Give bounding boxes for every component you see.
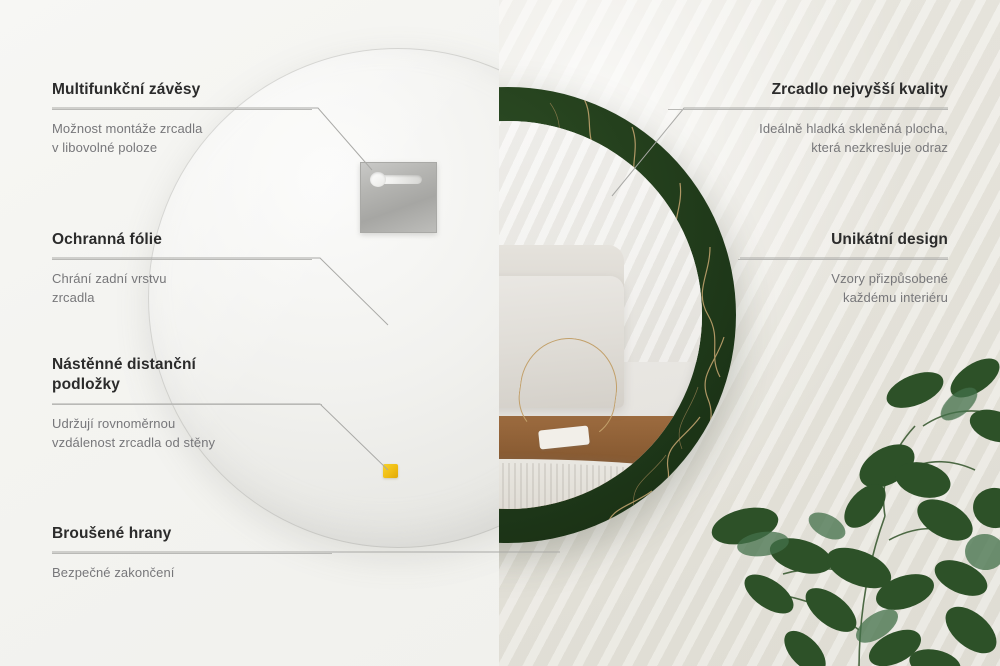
- callout-divider: [52, 553, 332, 554]
- plant-leaves-decoration: [709, 330, 1000, 666]
- callout-divider: [52, 404, 322, 405]
- title-line-2: podložky: [52, 376, 120, 393]
- callout-description: Možnost montáže zrcadla v libovolné polo…: [52, 120, 312, 158]
- callout-description: Bezpečné zakončení: [52, 564, 332, 583]
- callout-description: Ideálně hladká skleněná plocha, která ne…: [668, 120, 948, 158]
- desc-line-2: která nezkresluje odraz: [811, 140, 948, 155]
- mirror-glass-reflection: [499, 121, 702, 509]
- keyhole-slot-icon: [372, 175, 422, 184]
- desc-line-2: v libovolné poloze: [52, 140, 157, 155]
- callout-divider: [52, 109, 312, 110]
- callout-title: Multifunkční závěsy: [52, 80, 312, 100]
- desc-line-1: Možnost montáže zrcadla: [52, 121, 202, 136]
- callout-title: Broušené hrany: [52, 524, 332, 544]
- desc-line-1: Udržují rovnoměrnou: [52, 416, 175, 431]
- desc-line-2: vzdálenost zrcadla od stěny: [52, 435, 215, 450]
- title-line-1: Nástěnné distanční: [52, 356, 196, 373]
- callout-divider: [668, 109, 948, 110]
- wall-spacer-pad: [383, 464, 398, 478]
- hanging-bracket: [360, 162, 437, 233]
- callout-divider: [52, 259, 312, 260]
- callout-ochranna-folie: Ochranná fólie Chrání zadní vrstvu zrcad…: [52, 230, 312, 308]
- desc-line-2: každému interiéru: [843, 290, 948, 305]
- callout-divider: [738, 259, 948, 260]
- callout-title: Zrcadlo nejvyšší kvality: [668, 80, 948, 100]
- callout-description: Chrání zadní vrstvu zrcadla: [52, 270, 312, 308]
- callout-zrcadlo-nejvyssi-kvality: Zrcadlo nejvyšší kvality Ideálně hladká …: [668, 80, 948, 158]
- callout-description: Udržují rovnoměrnou vzdálenost zrcadla o…: [52, 415, 322, 453]
- desc-line-1: Bezpečné zakončení: [52, 565, 175, 580]
- callout-title: Nástěnné distanční podložky: [52, 355, 322, 395]
- callout-title: Unikátní design: [738, 230, 948, 250]
- desc-line-1: Chrání zadní vrstvu: [52, 271, 167, 286]
- desc-line-1: Ideálně hladká skleněná plocha,: [759, 121, 948, 136]
- callout-brousene-hrany: Broušené hrany Bezpečné zakončení: [52, 524, 332, 583]
- callout-description: Vzory přizpůsobené každému interiéru: [738, 270, 948, 308]
- callout-nastenne-distancni-podlozky: Nástěnné distanční podložky Udržují rovn…: [52, 355, 322, 453]
- infographic-canvas: Multifunkční závěsy Možnost montáže zrca…: [0, 0, 1000, 666]
- desc-line-1: Vzory přizpůsobené: [831, 271, 948, 286]
- desc-line-2: zrcadla: [52, 290, 95, 305]
- callout-multifunkcni-zavesy: Multifunkční závěsy Možnost montáže zrca…: [52, 80, 312, 158]
- callout-title: Ochranná fólie: [52, 230, 312, 250]
- callout-unikatni-design: Unikátní design Vzory přizpůsobené každé…: [738, 230, 948, 308]
